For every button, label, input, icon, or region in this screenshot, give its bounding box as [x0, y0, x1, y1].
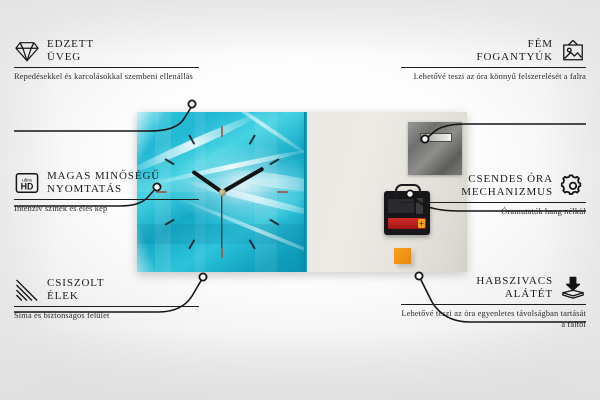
- feature-edzett-uveg: EDZETT ÜVEG Repedésekkel és karcolásokka…: [14, 38, 199, 83]
- clock-marker: [249, 239, 256, 250]
- clock-marker: [164, 219, 175, 226]
- polished-edges-icon: [14, 278, 40, 302]
- ultra-hd-icon: ultra HD: [14, 171, 40, 195]
- feature-title: HABSZIVACS ALÁTÉT: [476, 275, 553, 301]
- divider: [401, 304, 586, 305]
- feature-title: MAGAS MINŐSÉGŰ NYOMTATÁS: [47, 170, 160, 196]
- clock-marker: [269, 158, 280, 165]
- divider: [401, 67, 586, 68]
- feature-head: CSISZOLT ÉLEK: [14, 277, 199, 303]
- feature-fem-fogantyuk: FÉM FOGANTYÚK Lehetővé teszi az óra könn…: [401, 38, 586, 83]
- hands-center-cap: [219, 189, 226, 196]
- feature-head: ultra HD MAGAS MINŐSÉGŰ NYOMTATÁS: [14, 170, 199, 196]
- foam-pad: [394, 248, 411, 264]
- feature-title: CSISZOLT ÉLEK: [47, 277, 105, 303]
- connector-dot-3: [199, 273, 206, 280]
- divider: [14, 199, 199, 200]
- feature-habszivacs-alatet: HABSZIVACS ALÁTÉT Lehetővé teszi az óra …: [401, 275, 586, 330]
- clock-marker: [269, 219, 280, 226]
- battery-plus-label: +: [418, 219, 425, 228]
- feature-head: FÉM FOGANTYÚK: [401, 38, 586, 64]
- foam-pad-icon: [560, 276, 586, 300]
- clock-marker: [221, 126, 223, 137]
- feature-title: CSENDES ÓRA MECHANIZMUS: [461, 173, 553, 199]
- clock-marker: [164, 158, 175, 165]
- battery: +: [388, 218, 426, 229]
- infographic-canvas: +: [0, 0, 600, 400]
- connector-dot-1: [188, 100, 195, 107]
- feature-csendes-ora-mechanizmus: CSENDES ÓRA MECHANIZMUS Óramutatók hang …: [401, 173, 586, 218]
- feature-title: EDZETT ÜVEG: [47, 38, 94, 64]
- divider: [14, 306, 199, 307]
- feature-csiszolt-elek: CSISZOLT ÉLEK Sima és biztonságos felüle…: [14, 277, 199, 322]
- diamond-icon: [14, 39, 40, 63]
- clock-marker: [277, 191, 288, 193]
- glass-edge: [304, 112, 307, 272]
- clock-marker: [249, 134, 256, 145]
- clock-marker: [188, 134, 195, 145]
- feature-head: CSENDES ÓRA MECHANIZMUS: [401, 173, 586, 199]
- svg-text:HD: HD: [21, 181, 34, 191]
- divider: [401, 202, 586, 203]
- metal-hanger-plate: [408, 122, 462, 175]
- feature-title: FÉM FOGANTYÚK: [476, 38, 553, 64]
- clock-marker: [221, 247, 223, 258]
- hanger-slot: [420, 133, 452, 142]
- gear-icon: [560, 174, 586, 198]
- feature-head: EDZETT ÜVEG: [14, 38, 199, 64]
- feature-magas-minosegu-nyomtatas: ultra HD MAGAS MINŐSÉGŰ NYOMTATÁS Intenz…: [14, 170, 199, 215]
- feature-head: HABSZIVACS ALÁTÉT: [401, 275, 586, 301]
- second-hand: [221, 192, 222, 248]
- clock-marker: [188, 239, 195, 250]
- picture-hanger-icon: [560, 39, 586, 63]
- divider: [14, 67, 199, 68]
- minute-hand: [221, 166, 264, 193]
